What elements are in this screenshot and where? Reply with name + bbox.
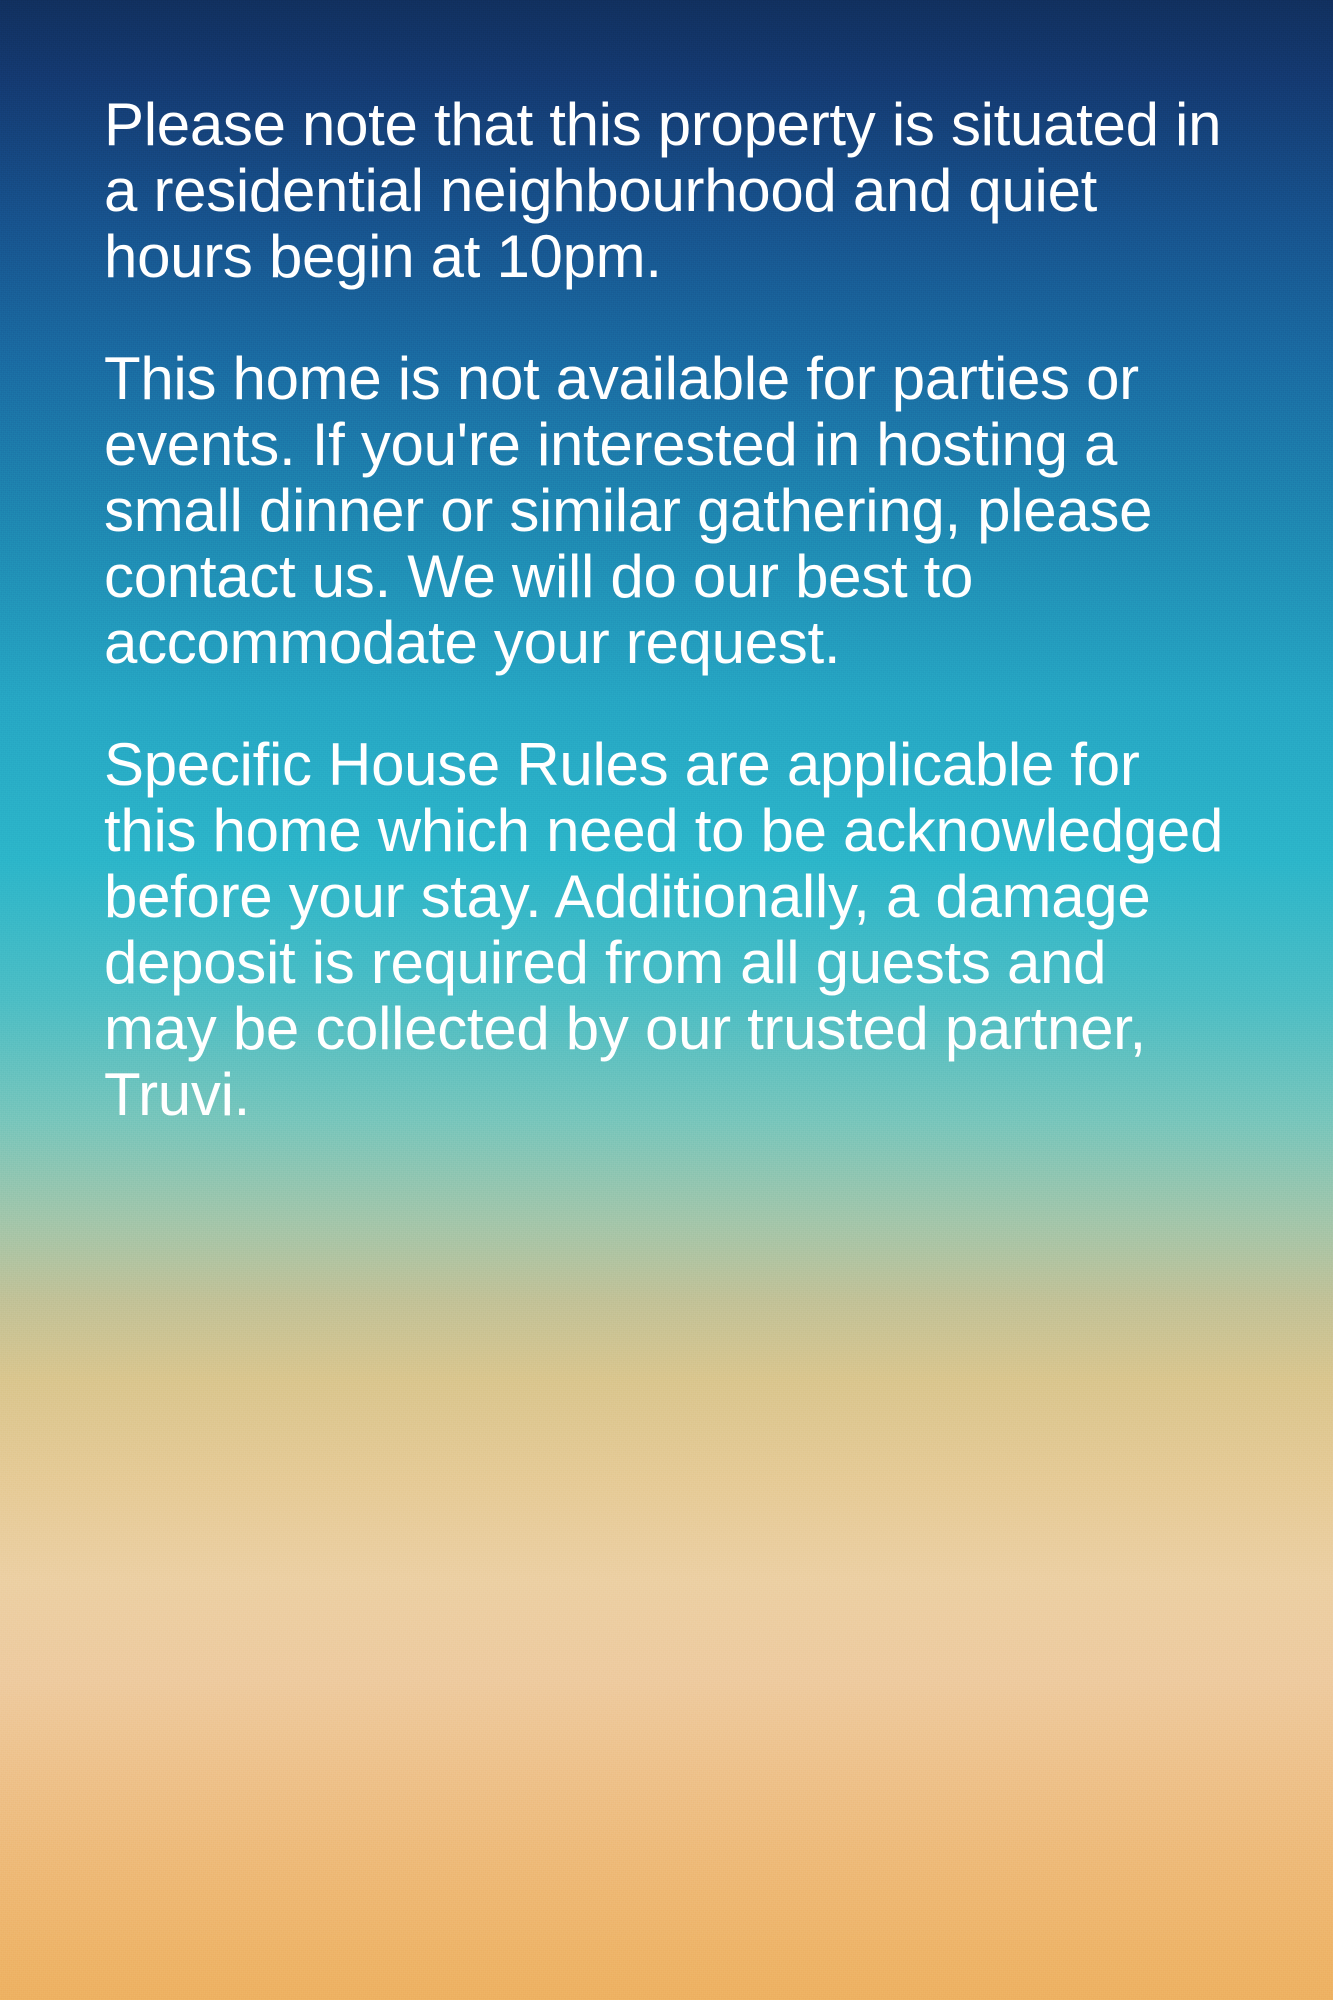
paragraph-quiet-hours: Please note that this property is situat…: [104, 92, 1224, 290]
notice-card: Please note that this property is situat…: [0, 0, 1333, 2000]
paragraph-house-rules-deposit: Specific House Rules are applicable for …: [104, 732, 1224, 1128]
notice-text-body: Please note that this property is situat…: [104, 92, 1224, 1128]
paragraph-no-parties: This home is not available for parties o…: [104, 346, 1224, 676]
